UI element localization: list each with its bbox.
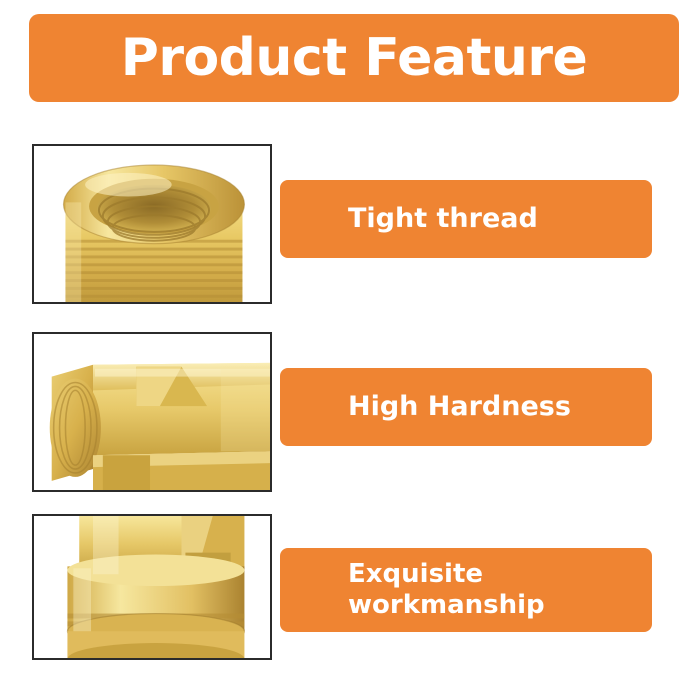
feature-row: Exquisite workmanship — [0, 514, 679, 664]
feature-row: High Hardness — [0, 332, 679, 502]
feature-row: Tight thread — [0, 144, 679, 314]
feature-photo-high-hardness — [32, 332, 272, 492]
feature-label-text: Tight thread — [348, 203, 538, 234]
feature-photo-exquisite-workmanship — [32, 514, 272, 660]
page-title: Product Feature — [121, 32, 588, 84]
feature-label-bar-exquisite-workmanship: Exquisite workmanship — [280, 548, 652, 632]
header-banner: Product Feature — [29, 14, 679, 102]
brass-hex-body-illustration — [34, 334, 270, 490]
feature-label-bar-tight-thread: Tight thread — [280, 180, 652, 258]
brass-base-flange-illustration — [34, 516, 270, 658]
feature-label-bar-high-hardness: High Hardness — [280, 368, 652, 446]
brass-thread-illustration — [34, 146, 270, 302]
feature-label-text: Exquisite workmanship — [348, 559, 545, 620]
product-feature-infographic: Product Feature — [0, 0, 679, 676]
feature-label-text: High Hardness — [348, 391, 571, 422]
feature-photo-tight-thread — [32, 144, 272, 304]
